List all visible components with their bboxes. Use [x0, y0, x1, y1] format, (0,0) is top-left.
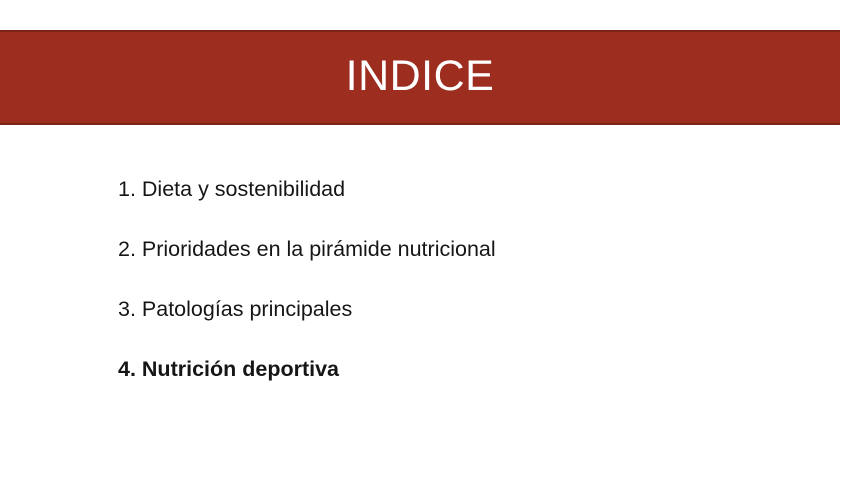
index-item-1[interactable]: 1. Dieta y sostenibilidad: [118, 160, 778, 220]
slide-canvas: INDICE 1. Dieta y sostenibilidad 2. Prio…: [0, 0, 848, 477]
index-list: 1. Dieta y sostenibilidad 2. Prioridades…: [118, 160, 778, 400]
index-item-2[interactable]: 2. Prioridades en la pirámide nutriciona…: [118, 220, 778, 280]
title-banner: INDICE: [0, 30, 840, 125]
page-title: INDICE: [346, 55, 495, 98]
index-item-4[interactable]: 4. Nutrición deportiva: [118, 340, 778, 400]
index-item-3[interactable]: 3. Patologías principales: [118, 280, 778, 340]
